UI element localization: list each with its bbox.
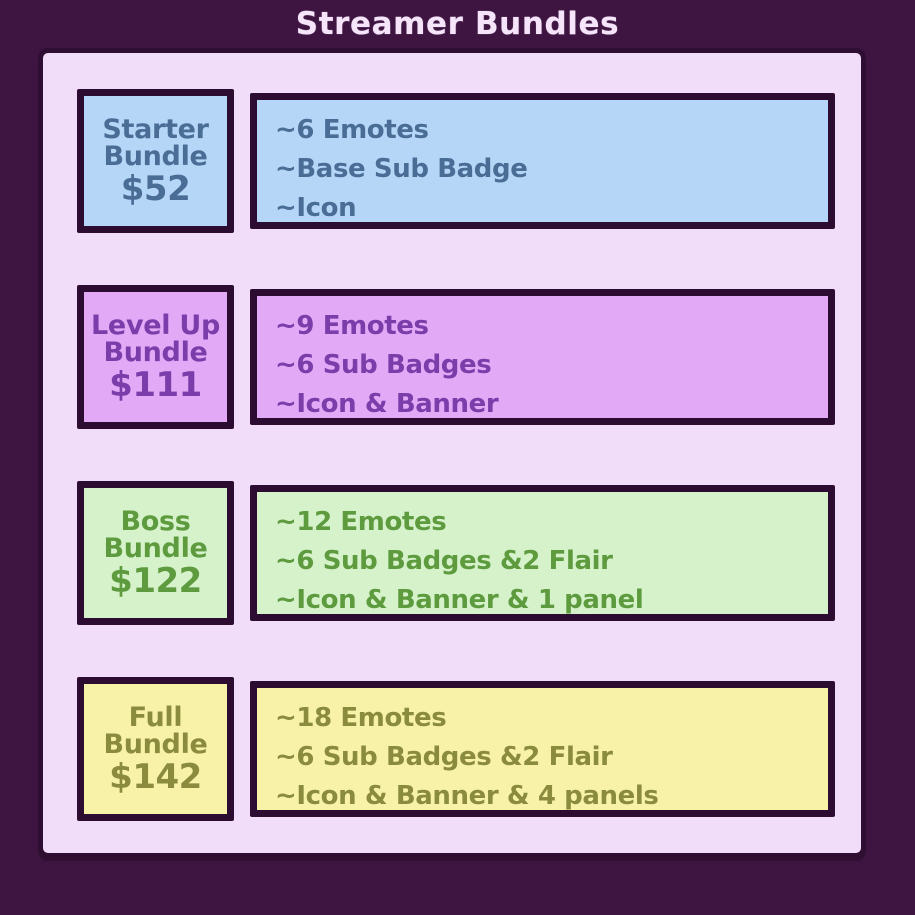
bundle-features-box-starter[interactable]: ~6 Emotes ~Base Sub Badge ~Icon — [250, 93, 835, 229]
feature-line: ~6 Sub Badges &2 Flair — [275, 542, 828, 581]
page-title: Streamer Bundles — [296, 9, 619, 40]
title-bar: Streamer Bundles — [0, 0, 915, 48]
bundle-name-line-2: Bundle — [103, 535, 207, 563]
bundle-row-boss[interactable]: Boss Bundle $122 ~12 Emotes ~6 Sub Badge… — [77, 479, 835, 627]
feature-line: ~6 Emotes — [275, 111, 828, 150]
bundle-price: $122 — [109, 564, 202, 599]
feature-line: ~18 Emotes — [275, 699, 828, 738]
bundle-name-line-2: Bundle — [103, 339, 207, 367]
bundle-features-box-boss[interactable]: ~12 Emotes ~6 Sub Badges &2 Flair ~Icon … — [250, 485, 835, 621]
bundle-price: $111 — [109, 368, 202, 403]
feature-line: ~Icon & Banner & 1 panel — [275, 581, 828, 620]
bundle-name-line-1: Full — [129, 704, 183, 732]
feature-line: ~12 Emotes — [275, 503, 828, 542]
bundle-price: $52 — [121, 172, 190, 207]
bundle-name-line-2: Bundle — [103, 731, 207, 759]
bundle-name-box-boss[interactable]: Boss Bundle $122 — [77, 481, 234, 625]
feature-line: ~Base Sub Badge — [275, 150, 828, 189]
feature-line: ~9 Emotes — [275, 307, 828, 346]
bundle-name-line-2: Bundle — [103, 143, 207, 171]
feature-line: ~6 Sub Badges &2 Flair — [275, 738, 828, 777]
bundle-row-starter[interactable]: Starter Bundle $52 ~6 Emotes ~Base Sub B… — [77, 87, 835, 235]
bundle-price: $142 — [109, 760, 202, 795]
bundle-name-box-starter[interactable]: Starter Bundle $52 — [77, 89, 234, 233]
feature-line: ~Icon & Banner & 4 panels — [275, 777, 828, 816]
bundle-row-levelup[interactable]: Level Up Bundle $111 ~9 Emotes ~6 Sub Ba… — [77, 283, 835, 431]
feature-line: ~Icon & Banner — [275, 385, 828, 424]
bundle-features-box-full[interactable]: ~18 Emotes ~6 Sub Badges &2 Flair ~Icon … — [250, 681, 835, 817]
bundle-panel: Starter Bundle $52 ~6 Emotes ~Base Sub B… — [38, 48, 866, 858]
bundle-name-line-1: Starter — [102, 116, 208, 144]
feature-line: ~Icon — [275, 189, 828, 228]
bundle-row-full[interactable]: Full Bundle $142 ~18 Emotes ~6 Sub Badge… — [77, 675, 835, 823]
bundle-name-line-1: Level Up — [91, 312, 220, 340]
bundle-name-line-1: Boss — [120, 508, 190, 536]
feature-line: ~6 Sub Badges — [275, 346, 828, 385]
bundle-name-box-levelup[interactable]: Level Up Bundle $111 — [77, 285, 234, 429]
bundle-name-box-full[interactable]: Full Bundle $142 — [77, 677, 234, 821]
bundle-features-box-levelup[interactable]: ~9 Emotes ~6 Sub Badges ~Icon & Banner — [250, 289, 835, 425]
